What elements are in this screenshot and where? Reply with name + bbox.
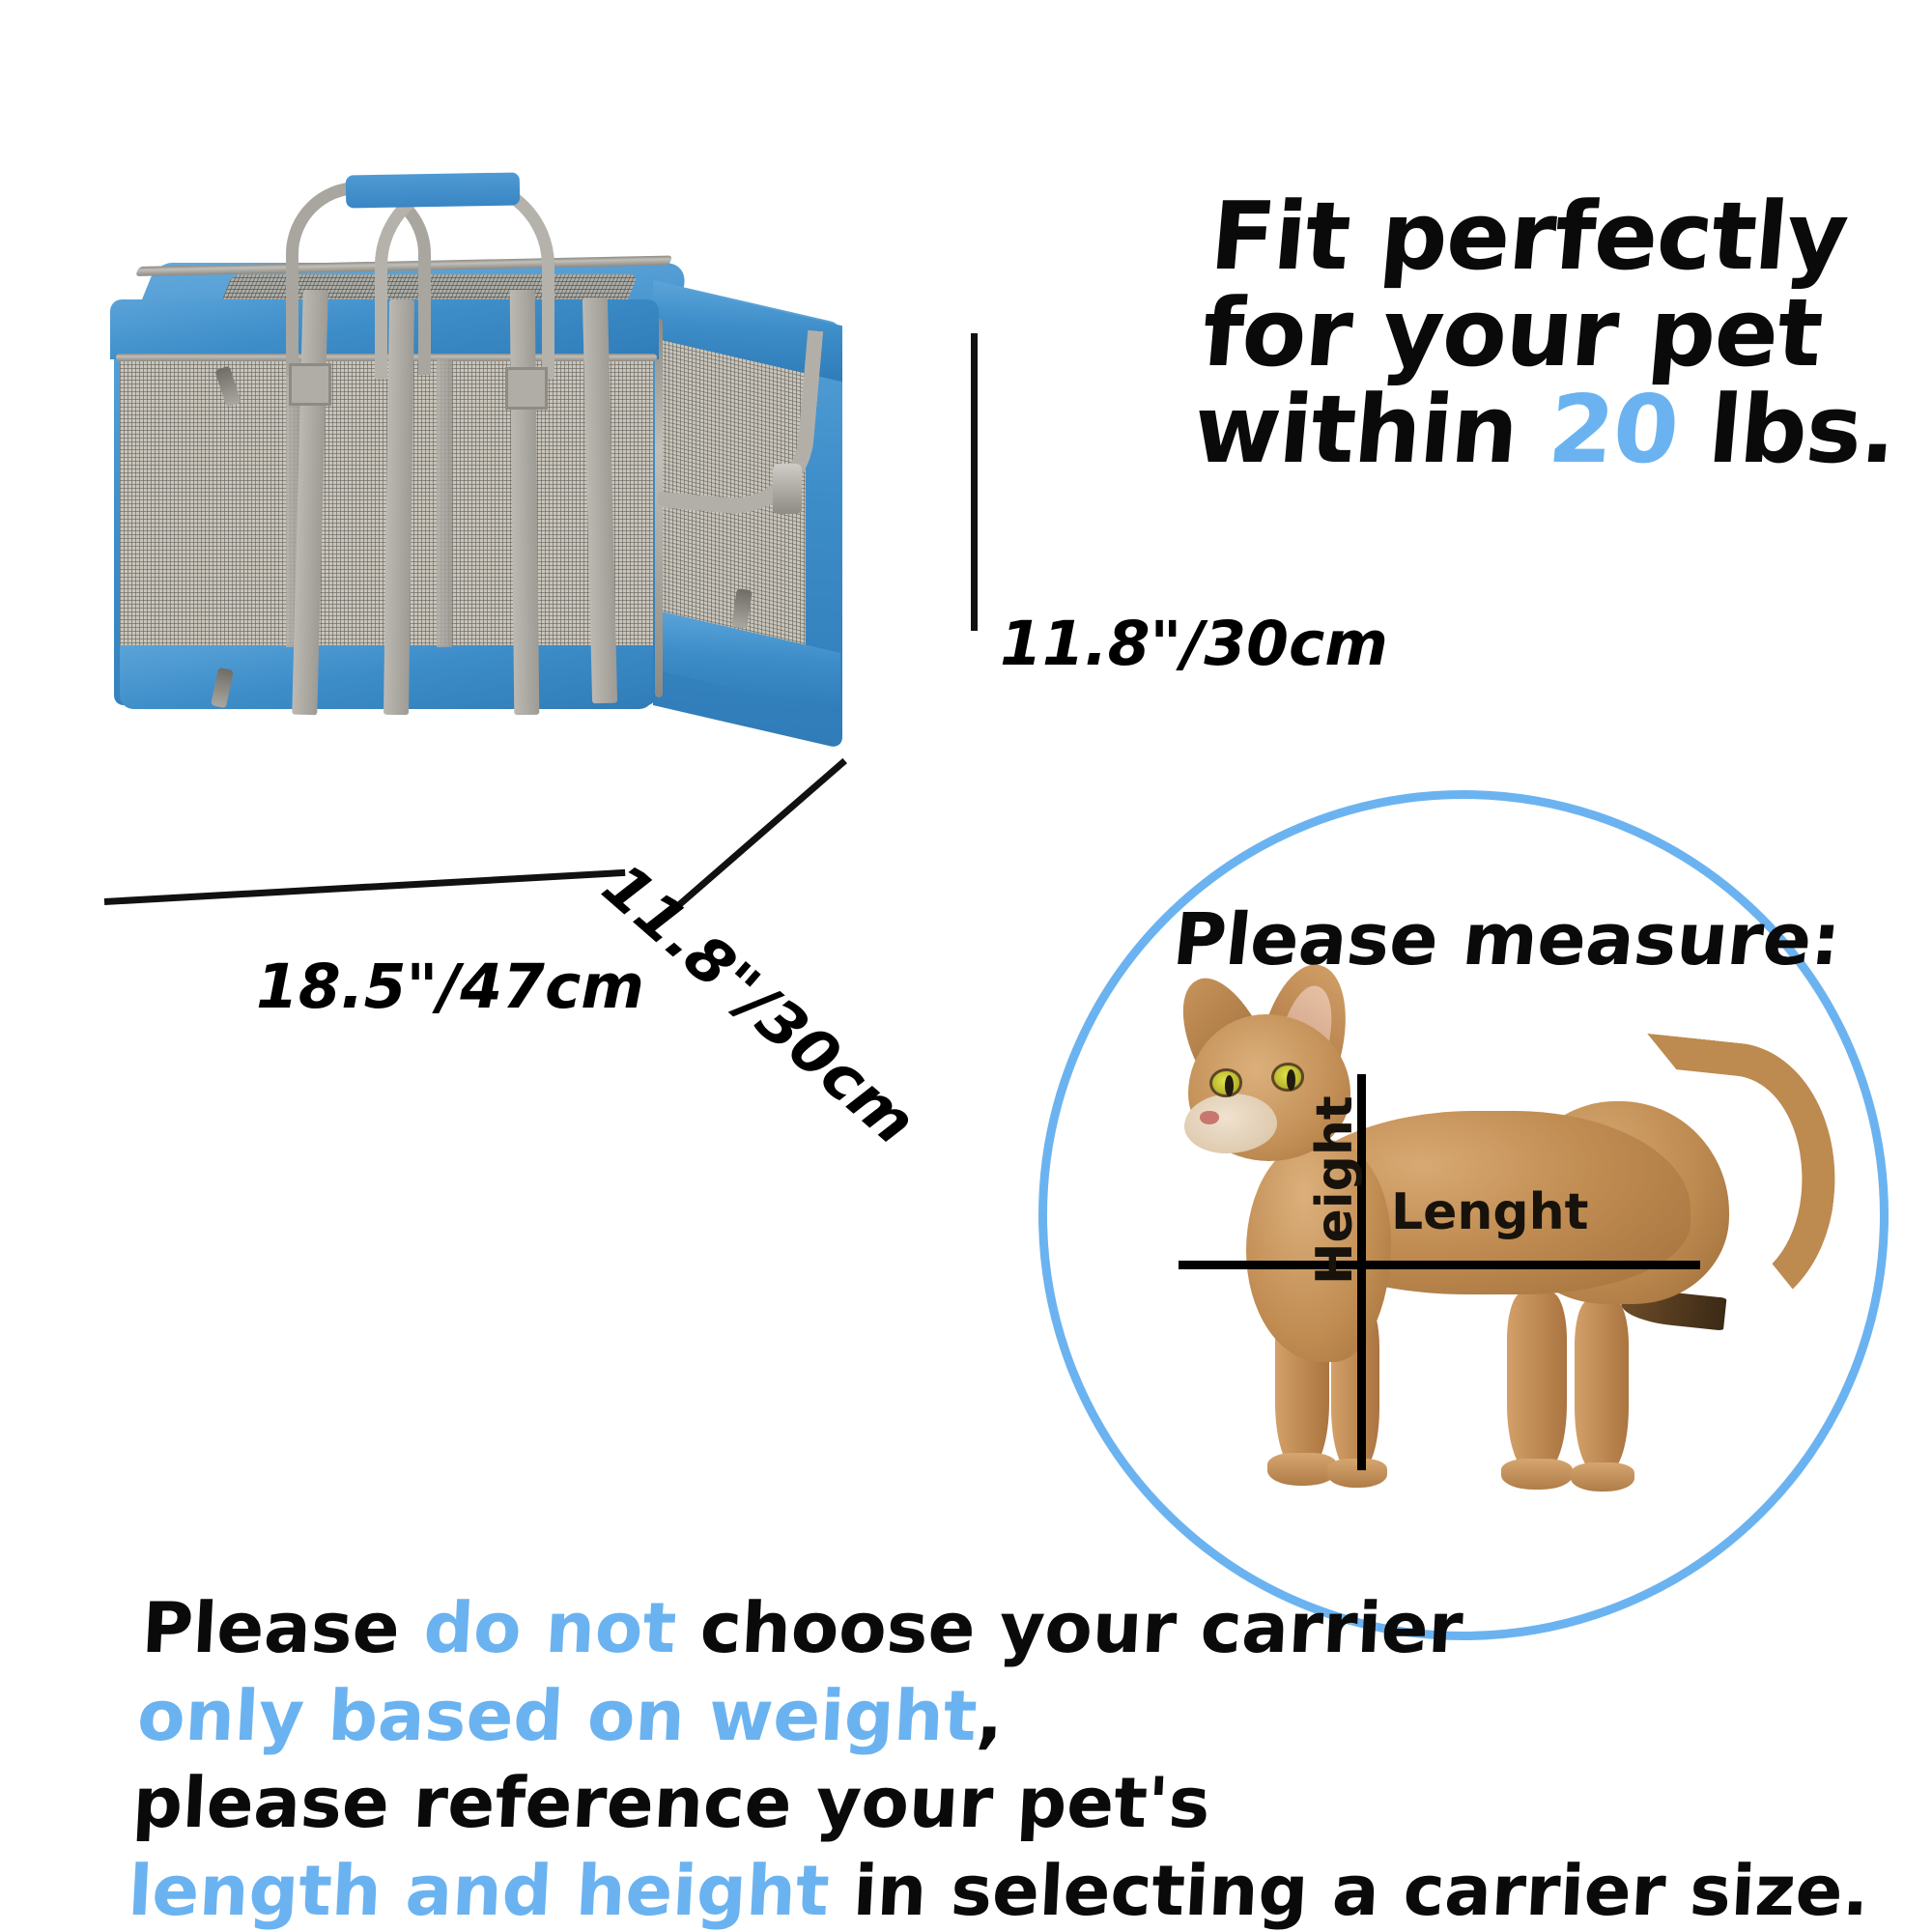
cat-paw: [1571, 1463, 1634, 1492]
cat-nose: [1200, 1111, 1219, 1124]
disclaimer-l1-post: choose your carrier: [674, 1587, 1465, 1668]
disclaimer-l4-post: in selecting a carrier size.: [827, 1850, 1871, 1931]
headline-lbs-text: lbs.: [1673, 375, 1901, 484]
carrier-mesh-rib: [437, 359, 452, 647]
infographic-canvas: 11.8"/30cm 18.5"/47cm 11.8"/30cm Fit per…: [0, 0, 1932, 1932]
disclaimer-line-3: please reference your pet's: [130, 1759, 1681, 1847]
disclaimer-text: Please do not choose your carrier only b…: [126, 1584, 1690, 1932]
dimension-line-width: [104, 869, 626, 905]
disclaimer-line-2: only based on weight,: [135, 1672, 1686, 1760]
dimension-line-height: [971, 333, 978, 631]
disclaimer-l4-accent: length and height: [127, 1850, 832, 1931]
carrier-handle-grip-band: [346, 172, 521, 208]
disclaimer-l2-accent: only based on weight: [135, 1675, 979, 1756]
dimension-label-width: 18.5"/47cm: [256, 952, 644, 1022]
carrier-strap-stitch: [289, 363, 331, 406]
pet-carrier-illustration: [97, 174, 956, 792]
measure-line-length: [1179, 1261, 1700, 1269]
cat-eye-right: [1271, 1063, 1304, 1092]
measure-label-length: Lenght: [1391, 1183, 1589, 1241]
disclaimer-l2-post: ,: [975, 1675, 1006, 1756]
cat-leg-back-left: [1507, 1293, 1567, 1472]
disclaimer-l1-pre: Please: [140, 1587, 426, 1668]
carrier-strap: [510, 290, 540, 715]
headline-within-text: within: [1189, 375, 1553, 484]
carrier-strap-clip: [773, 464, 802, 514]
disclaimer-l1-accent: do not: [422, 1587, 679, 1668]
cat-paw: [1501, 1459, 1573, 1490]
headline-line-3: within 20 lbs.: [1190, 382, 1932, 478]
carrier-strap-stitch: [505, 367, 548, 410]
cat-leg-back-right: [1575, 1300, 1629, 1472]
carrier-side-zipper: [655, 319, 663, 697]
cat-eye-left: [1209, 1068, 1242, 1097]
headline-weight-value: 20: [1545, 375, 1683, 484]
cat-illustration: [1092, 985, 1826, 1526]
please-measure-title: Please measure:: [1169, 898, 1796, 981]
disclaimer-line-1: Please do not choose your carrier: [140, 1584, 1690, 1672]
disclaimer-line-4: length and height in selecting a carrier…: [126, 1847, 1676, 1932]
headline: Fit perfectly for your pet within 20 lbs…: [1190, 188, 1932, 478]
measure-label-height: Height: [1306, 1095, 1364, 1285]
headline-line-1: Fit perfectly: [1207, 188, 1932, 285]
dimension-label-height: 11.8"/30cm: [1000, 609, 1388, 679]
headline-line-2: for your pet: [1199, 285, 1932, 382]
